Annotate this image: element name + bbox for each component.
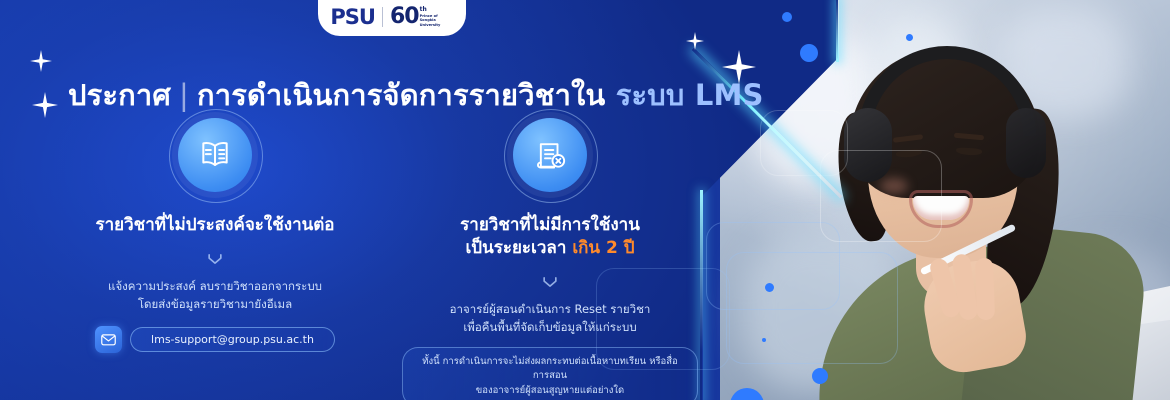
page-title: ประกาศ|การดำเนินการจัดการรายวิชาใน ระบบ … (68, 72, 764, 118)
column-b-note-line2: ของอาจารย์ผู้สอนสูญหายแต่อย่างใด (415, 384, 685, 399)
column-a-body-line1: แจ้งความประสงค์ ลบรายวิชาออกจากระบบ (40, 277, 390, 295)
decor-rect-5 (760, 110, 848, 176)
anniversary-number: 60 (390, 4, 419, 29)
decor-dot-6 (800, 44, 818, 62)
icon-ring (504, 109, 598, 203)
document-remove-icon (513, 118, 587, 192)
column-inactive-courses: รายวิชาที่ไม่มีการใช้งาน เป็นระยะเวลา เก… (395, 118, 705, 400)
psu-logo-text: PSU (330, 5, 375, 29)
column-unused-courses: รายวิชาที่ไม่ประสงค์จะใช้งานต่อ แจ้งความ… (40, 118, 390, 353)
anniversary-suffix: th (420, 6, 454, 13)
envelope-icon (95, 326, 122, 353)
column-b-heading-line2: เป็นระยะเวลา เกิน 2 ปี (395, 237, 705, 260)
anniversary-subtitle: Prince of Songkla University (420, 14, 454, 27)
psu-logo-plate: PSU 60 th Prince of Songkla University (318, 0, 466, 36)
column-b-heading-prefix: เป็นระยะเวลา (465, 238, 566, 258)
column-b-heading: รายวิชาที่ไม่มีการใช้งาน เป็นระยะเวลา เก… (395, 214, 705, 260)
title-separator: | (171, 78, 197, 112)
column-b-heading-highlight: เกิน 2 ปี (572, 238, 634, 258)
title-main: การดำเนินการจัดการรายวิชาใน (197, 78, 605, 112)
column-b-body: อาจารย์ผู้สอนดำเนินการ Reset รายวิชา เพื… (395, 300, 705, 337)
support-email[interactable]: lms-support@group.psu.ac.th (130, 327, 335, 352)
title-highlight: ระบบ LMS (616, 78, 764, 112)
lms-announcement-banner: PSU 60 th Prince of Songkla University ป… (0, 0, 1170, 400)
column-b-heading-line1: รายวิชาที่ไม่มีการใช้งาน (395, 214, 705, 237)
column-a-body: แจ้งความประสงค์ ลบรายวิชาออกจากระบบ โดยส… (40, 277, 390, 314)
column-a-body-line2: โดยส่งข้อมูลรายวิชามายังอีเมล (40, 295, 390, 313)
decor-rect-2 (726, 252, 898, 364)
column-b-note: ทั้งนี้ การดำเนินการจะไม่ส่งผลกระทบต่อเน… (402, 347, 698, 400)
headphone-earcup-right (1006, 108, 1046, 178)
column-b-body-line2: เพื่อคืนพื้นที่จัดเก็บข้อมูลให้แก่ระบบ (395, 318, 705, 336)
column-b-body-line1: อาจารย์ผู้สอนดำเนินการ Reset รายวิชา (395, 300, 705, 318)
icon-ring (169, 109, 263, 203)
decor-dot-7 (906, 34, 913, 41)
person-finger-3 (975, 258, 995, 321)
chevron-down-icon (205, 249, 225, 269)
column-a-heading: รายวิชาที่ไม่ประสงค์จะใช้งานต่อ (40, 214, 390, 237)
column-b-note-line1: ทั้งนี้ การดำเนินการจะไม่ส่งผลกระทบต่อเน… (415, 355, 685, 384)
logo-divider (382, 7, 383, 27)
decor-dot-5 (782, 12, 792, 22)
decor-dot-2 (762, 338, 766, 342)
chevron-down-glyph (540, 272, 560, 292)
email-row: lms-support@group.psu.ac.th (40, 326, 390, 353)
decor-dot-1 (765, 283, 774, 292)
chevron-down-glyph (205, 249, 225, 269)
chevron-down-icon (540, 272, 560, 292)
panel-edge-top (836, 0, 839, 62)
envelope-glyph (100, 331, 117, 348)
decor-dot-3 (812, 368, 828, 384)
open-book-icon (178, 118, 252, 192)
title-label: ประกาศ (68, 78, 171, 112)
